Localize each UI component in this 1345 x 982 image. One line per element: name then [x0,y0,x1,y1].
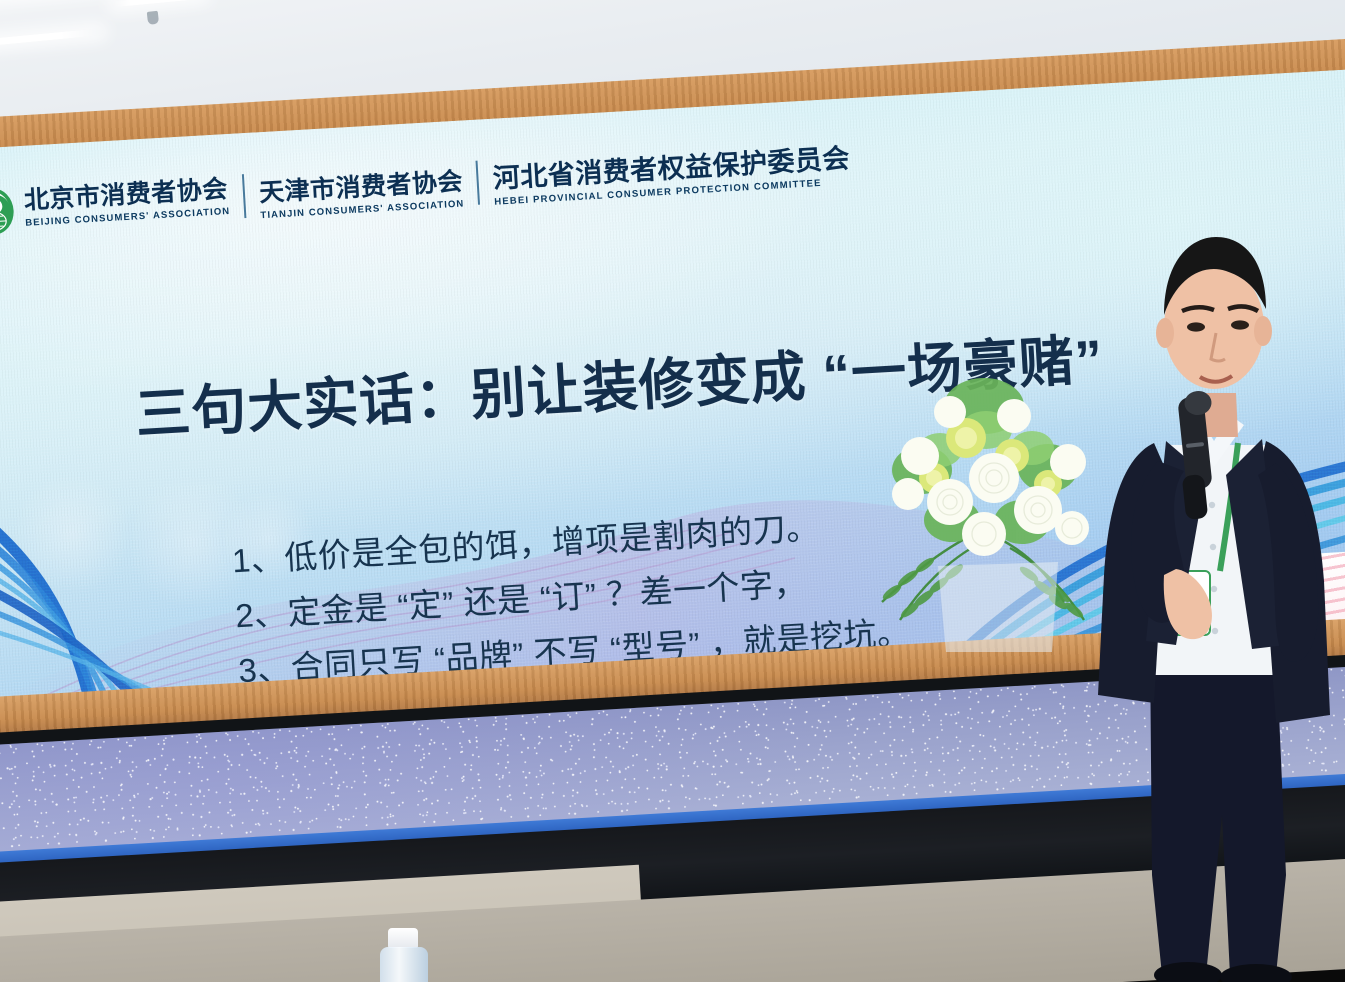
315-consumer-emblem-icon: 315 [0,184,17,236]
speaker-presenter [1080,175,1345,982]
conference-stage-scene: 315 北京市消费者协会 BEIJING CONSUMERS' ASSOCIAT… [0,0,1345,982]
ceiling-light-strip [0,28,103,55]
water-bottle [378,928,430,982]
ceiling-light-strip [111,0,206,7]
bottle-cap [388,928,418,948]
bottle-body [380,947,428,982]
sprinkler-icon [147,11,159,25]
ceiling-light-strip [0,0,539,9]
trousers [1150,645,1286,975]
floral-arrangement [862,352,1112,652]
